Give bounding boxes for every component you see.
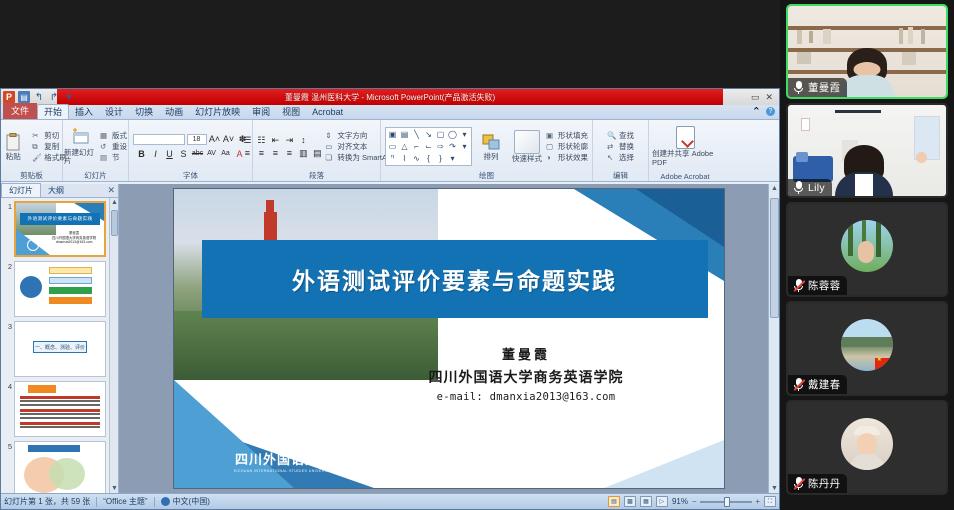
strikethrough-button[interactable]: abc xyxy=(192,148,204,160)
shape-effects-icon: ◑ xyxy=(546,153,556,163)
ribbon-tab-strip[interactable]: 文件 开始 插入 设计 切换 动画 幻灯片放映 审阅 视图 Acrobat ⌃ … xyxy=(1,105,779,120)
tab-design[interactable]: 设计 xyxy=(99,105,129,119)
tab-insert[interactable]: 插入 xyxy=(69,105,99,119)
theme-label[interactable]: “Office 主题” xyxy=(103,496,147,507)
thumbnail-number: 5 xyxy=(3,441,12,493)
font-size-input[interactable]: 18 xyxy=(187,134,207,145)
bullets-icon[interactable]: ☰ xyxy=(241,134,253,146)
accent-triangle-topright-dark xyxy=(636,189,724,247)
cut-label: 剪切 xyxy=(44,131,59,140)
university-logo: 四川外国语大学 SICHUAN INTERNATIONAL STUDIES UN… xyxy=(229,413,339,473)
tab-acrobat[interactable]: Acrobat xyxy=(306,105,349,119)
ribbon-group-editing: 🔍查找 ⇄替换 ↖选择 编辑 xyxy=(593,120,649,181)
avatar xyxy=(841,418,893,470)
tab-review[interactable]: 审阅 xyxy=(246,105,276,119)
ribbon-group-clipboard: 粘贴 ✂剪切 ⧉复制 🖌格式刷 剪贴板 xyxy=(1,120,63,181)
quick-styles-label: 快速样式 xyxy=(512,155,542,163)
help-icon[interactable]: ? xyxy=(766,107,775,116)
line-spacing-icon[interactable]: ↕ xyxy=(297,134,309,146)
microphone-muted-icon xyxy=(793,477,804,490)
ribbon-group-acrobat: 创建并共享 Adobe PDF Adobe Acrobat xyxy=(649,120,721,181)
participant-name-bar: 陈蓉蓉 xyxy=(788,276,847,295)
shape-fill-label: 形状填充 xyxy=(558,131,588,140)
group-label-slides: 幻灯片 xyxy=(63,170,128,181)
globe-emblem-icon xyxy=(267,413,301,447)
shadow-button[interactable]: S xyxy=(178,148,190,160)
university-name-cn: 四川外国语大学 xyxy=(229,449,339,468)
view-sorter-button[interactable]: ▩ xyxy=(624,496,636,507)
align-text-icon: ▭ xyxy=(325,142,335,152)
save-icon[interactable]: ▤ xyxy=(18,91,30,103)
participant-name: 陈蓉蓉 xyxy=(808,278,840,293)
thumbnail-slide-2[interactable] xyxy=(14,261,106,317)
list-item[interactable]: 3 一、概念、测验、评价 xyxy=(1,321,116,377)
decrease-font-icon[interactable]: A˅ xyxy=(223,133,235,145)
shape-elbow-icon[interactable]: ⌐ xyxy=(411,141,422,152)
microphone-icon xyxy=(793,181,804,194)
reset-icon: ↺ xyxy=(100,142,110,152)
ribbon-body: 粘贴 ✂剪切 ⧉复制 🖌格式刷 剪贴板 xyxy=(1,120,779,182)
underline-button[interactable]: U xyxy=(164,148,176,160)
thumbnail-number: 1 xyxy=(3,201,12,257)
shape-rightarrow-icon[interactable]: ⇨ xyxy=(435,141,446,152)
thumbnail-number: 4 xyxy=(3,381,12,437)
format-painter-button[interactable]: 🖌格式刷 xyxy=(32,153,67,163)
zoom-slider[interactable]: − + xyxy=(692,496,760,507)
microphone-muted-icon xyxy=(793,279,804,292)
author-block[interactable]: 董曼霞 四川外国语大学商务英语学院 e-mail: dmanxia2013@16… xyxy=(367,344,686,403)
align-left-icon[interactable]: ≡ xyxy=(241,147,253,159)
stage-scroll-thumb[interactable] xyxy=(770,198,779,318)
globe-icon xyxy=(161,497,170,506)
reset-button[interactable]: ↺重设 xyxy=(100,142,127,152)
close-icon[interactable]: ✕ xyxy=(765,92,773,103)
scroll-up-icon[interactable]: ▲ xyxy=(111,199,118,206)
powerpoint-logo-icon: P xyxy=(3,91,15,103)
new-slide-button[interactable]: 新建幻灯片 xyxy=(64,128,98,165)
group-label-clipboard: 剪贴板 xyxy=(1,170,62,181)
paste-label: 粘贴 xyxy=(6,153,21,161)
window-buttons[interactable]: ▭ ✕ xyxy=(751,89,777,105)
author-name: 董曼霞 xyxy=(367,344,686,363)
cut-button[interactable]: ✂剪切 xyxy=(32,131,67,141)
participant-name-bar: 陈丹丹 xyxy=(788,474,847,493)
italic-button[interactable]: I xyxy=(150,148,162,160)
tab-file[interactable]: 文件 xyxy=(3,103,37,119)
shape-triangle-icon[interactable]: △ xyxy=(399,141,410,152)
copy-icon: ⧉ xyxy=(32,142,42,152)
shape-outline-icon: ▢ xyxy=(546,142,556,152)
shape-scribble-icon[interactable]: ⌇ xyxy=(399,153,410,164)
text-direction-quick-icon[interactable]: ▤ xyxy=(311,147,323,159)
participant-tile-0[interactable]: 董曼霞 xyxy=(786,4,948,99)
thumbnail-number: 3 xyxy=(3,321,12,377)
increase-font-icon[interactable]: A˄ xyxy=(209,133,221,145)
shape-more-icon[interactable]: ▾ xyxy=(459,129,470,140)
quick-styles-button[interactable]: 快速样式 xyxy=(510,130,544,163)
create-share-pdf-button[interactable]: 创建并共享 Adobe PDF xyxy=(652,126,718,167)
change-case-button[interactable]: Aa xyxy=(220,148,232,160)
ribbon-group-drawing: ▣ ▤ ╲ ↘ ▢ ◯ ▾ ▭ △ ⌐ ⌙ ⇨ ↷ ▾ ꞌꞋ xyxy=(381,120,593,181)
powerpoint-window: P ▤ ↰ ↱ ▾ 董曼霞 温州医科大学 - Microsoft PowerPo… xyxy=(0,88,780,510)
close-pane-icon[interactable]: ✕ xyxy=(107,185,115,196)
pdf-icon xyxy=(676,126,695,149)
fit-slide-button[interactable]: ⛶ xyxy=(764,496,776,507)
copy-label: 复制 xyxy=(44,142,59,151)
layout-icon: ▦ xyxy=(100,131,110,141)
shape-gallery[interactable]: ▣ ▤ ╲ ↘ ▢ ◯ ▾ ▭ △ ⌐ ⌙ ⇨ ↷ ▾ ꞌꞋ xyxy=(385,127,472,166)
replace-label: 替换 xyxy=(619,142,634,151)
language-indicator[interactable]: 中文(中国) xyxy=(161,496,210,507)
shape-blank-icon xyxy=(459,153,470,164)
participant-name: Lily xyxy=(808,182,825,194)
zoom-handle[interactable] xyxy=(724,497,730,507)
quick-access-toolbar[interactable]: P ▤ ↰ ↱ ▾ xyxy=(1,89,75,105)
shape-square-icon[interactable]: ▢ xyxy=(435,129,446,140)
tab-view[interactable]: 视图 xyxy=(276,105,306,119)
shape-curve-icon[interactable]: ∿ xyxy=(411,153,422,164)
meeting-participant-rail[interactable]: 董曼霞 Lily xyxy=(780,0,954,510)
accent-triangle-bottomright xyxy=(604,440,724,488)
status-bar: 幻灯片第 1 张，共 59 张 “Office 主题” 中文(中国) ▤ ▩ ▦… xyxy=(1,493,779,509)
text-direction-label: 文字方向 xyxy=(337,131,367,140)
shape-line-icon[interactable]: ╲ xyxy=(411,129,422,140)
section-icon: ▤ xyxy=(100,153,110,163)
shape-outline-button[interactable]: ▢形状轮廓 xyxy=(546,142,588,152)
window-title-text: 董曼霞 温州医科大学 - Microsoft PowerPoint(产品激活失败… xyxy=(285,92,495,103)
group-label-editing: 编辑 xyxy=(593,170,648,181)
slide-canvas[interactable]: 外语测试评价要素与命题实践 董曼霞 四川外国语大学商务英语学院 e-mail: … xyxy=(174,189,724,488)
participant-tile-3[interactable]: ★ 戴建春 xyxy=(786,301,948,396)
align-text-label: 对齐文本 xyxy=(337,142,367,151)
numbering-icon[interactable]: ☷ xyxy=(255,134,267,146)
columns-icon[interactable]: ▥ xyxy=(297,147,309,159)
shape-effects-label: 形状效果 xyxy=(558,153,588,162)
tab-outline[interactable]: 大纲 xyxy=(41,184,71,197)
tab-transitions[interactable]: 切换 xyxy=(129,105,159,119)
slide-scrollbar[interactable]: ▲ ▼ xyxy=(768,184,779,493)
thumbnail-slide-1[interactable]: 外语测试评价要素与命题实践 董曼霞四川外国语大学商务英语学院dmanxia201… xyxy=(14,201,106,257)
shape-outline-label: 形状轮廓 xyxy=(558,142,588,151)
text-direction-icon: ⇕ xyxy=(325,131,335,141)
replace-icon: ⇄ xyxy=(607,142,617,152)
ribbon-group-font: 18 A˄ A˅ ✽ B I U S abc AV Aa A xyxy=(129,120,253,181)
participant-tile-2[interactable]: 陈蓉蓉 xyxy=(786,202,948,297)
participant-name: 董曼霞 xyxy=(808,80,840,95)
scroll-down-icon[interactable]: ▼ xyxy=(111,485,118,492)
justify-icon[interactable]: ≡ xyxy=(283,147,295,159)
shape-fill-button[interactable]: ▣形状填充 xyxy=(546,131,588,141)
thumbnail-scrollbar[interactable]: ▲ ▼ xyxy=(109,198,118,493)
group-label-paragraph: 段落 xyxy=(253,170,380,181)
participant-name-bar: 董曼霞 xyxy=(788,78,847,97)
find-button[interactable]: 🔍查找 xyxy=(607,131,634,141)
new-slide-label: 新建幻灯片 xyxy=(64,149,98,165)
ribbon-group-slides: 新建幻灯片 ▦版式 ↺重设 ▤节 幻灯片 xyxy=(63,120,129,181)
zoom-in-button[interactable]: + xyxy=(755,497,760,506)
shape-brace-close-icon[interactable]: } xyxy=(435,153,446,164)
new-slide-icon xyxy=(71,128,91,148)
redo-icon[interactable]: ↱ xyxy=(48,91,60,103)
layout-button[interactable]: ▦版式 xyxy=(100,131,127,141)
participant-name-bar: 戴建春 xyxy=(788,375,847,394)
undo-icon[interactable]: ↰ xyxy=(33,91,45,103)
select-button[interactable]: ↖选择 xyxy=(607,153,634,163)
tab-slideshow[interactable]: 幻灯片放映 xyxy=(189,105,246,119)
create-share-pdf-label: 创建并共享 Adobe PDF xyxy=(652,149,718,167)
shape-freeform-icon[interactable]: ꞌꞋ xyxy=(387,153,398,164)
group-label-font: 字体 xyxy=(129,170,252,181)
university-name-en: SICHUAN INTERNATIONAL STUDIES UNIVERSITY xyxy=(229,469,339,473)
zoom-out-button[interactable]: − xyxy=(692,497,697,506)
avatar: ★ xyxy=(841,319,893,371)
brush-icon: 🖌 xyxy=(32,153,42,163)
participant-tile-1[interactable]: Lily xyxy=(786,103,948,198)
arrange-icon xyxy=(481,132,501,152)
thumbnail-number: 2 xyxy=(3,261,12,317)
shape-rect2-icon[interactable]: ▤ xyxy=(399,129,410,140)
shape-arrow-icon[interactable]: ↘ xyxy=(423,129,434,140)
slide-pane-tabs[interactable]: 幻灯片 大纲 ✕ xyxy=(1,184,118,198)
align-center-icon[interactable]: ≡ xyxy=(255,147,267,159)
shape-rounded-icon[interactable]: ▭ xyxy=(387,141,398,152)
customize-qat-icon[interactable]: ▾ xyxy=(63,91,75,103)
section-label: 节 xyxy=(112,153,120,162)
scissors-icon: ✂ xyxy=(32,131,42,141)
shape-corner-icon[interactable]: ⌙ xyxy=(423,141,434,152)
shape-oval-icon[interactable]: ◯ xyxy=(447,129,458,140)
ribbon-group-paragraph: ☰ ☷ ⇤ ⇥ ↕ ≡ ≡ ≡ ≡ ▥ ▤ xyxy=(253,120,381,181)
thumbnail-slide-5[interactable] xyxy=(14,441,106,493)
tab-animations[interactable]: 动画 xyxy=(159,105,189,119)
minimize-icon[interactable]: ▭ xyxy=(751,92,760,103)
shape-textbox-icon[interactable]: ▣ xyxy=(387,129,398,140)
microphone-muted-icon xyxy=(793,378,804,391)
group-label-acrobat: Adobe Acrobat xyxy=(649,172,721,181)
increase-indent-icon[interactable]: ⇥ xyxy=(283,134,295,146)
divider xyxy=(96,497,97,507)
arrange-button[interactable]: 排列 xyxy=(474,132,508,161)
stage-scroll-up-icon[interactable]: ▲ xyxy=(769,185,780,192)
participant-name-bar: Lily xyxy=(788,179,832,196)
shape-gallery-more-icon[interactable]: ▾ xyxy=(447,153,458,164)
thumbnail-slide-4[interactable] xyxy=(14,381,106,437)
view-slideshow-button[interactable]: ▷ xyxy=(656,496,668,507)
author-affiliation: 四川外国语大学商务英语学院 xyxy=(367,367,686,387)
paste-icon xyxy=(3,132,23,152)
list-item[interactable]: 2 xyxy=(1,261,116,317)
quick-styles-icon xyxy=(514,130,540,154)
find-label: 查找 xyxy=(619,131,634,140)
zoom-level-label: 91% xyxy=(672,497,688,506)
avatar xyxy=(841,220,893,272)
participant-name: 陈丹丹 xyxy=(808,476,840,491)
shape-fill-icon: ▣ xyxy=(546,131,556,141)
decrease-indent-icon[interactable]: ⇤ xyxy=(269,134,281,146)
align-right-icon[interactable]: ≡ xyxy=(269,147,281,159)
list-item[interactable]: 4 xyxy=(1,381,116,437)
thumbnail-list[interactable]: 1 外语测试评价要素与命题实践 董曼霞四川外国语大学商务英语学院dmanxia2… xyxy=(1,198,118,493)
tab-home[interactable]: 开始 xyxy=(37,104,69,119)
slide-stage: 外语测试评价要素与命题实践 董曼霞 四川外国语大学商务英语学院 e-mail: … xyxy=(119,184,779,493)
window-title: 董曼霞 温州医科大学 - Microsoft PowerPoint(产品激活失败… xyxy=(57,89,723,105)
slide-thumbnail-pane: 幻灯片 大纲 ✕ 1 外语测试评价要素与命题实践 董曼霞四川外国语大学商务英语学… xyxy=(1,184,119,493)
participant-tile-4[interactable]: 陈丹丹 xyxy=(786,400,948,495)
status-right-controls[interactable]: ▤ ▩ ▦ ▷ 91% − + ⛶ xyxy=(608,496,776,507)
author-email: e-mail: dmanxia2013@163.com xyxy=(367,391,686,403)
ribbon-help-controls[interactable]: ⌃ ? xyxy=(752,105,775,118)
group-label-drawing: 绘图 xyxy=(381,170,592,181)
screen-root: P ▤ ↰ ↱ ▾ 董曼霞 温州医科大学 - Microsoft PowerPo… xyxy=(0,0,954,510)
shape-curvearrow-icon[interactable]: ↷ xyxy=(447,141,458,152)
tab-slides[interactable]: 幻灯片 xyxy=(1,183,41,197)
select-label: 选择 xyxy=(619,153,634,162)
shape-effects-button[interactable]: ◑形状效果 xyxy=(546,153,588,163)
arrange-label: 排列 xyxy=(484,153,499,161)
reset-label: 重设 xyxy=(112,142,127,151)
thumbnail-slide-3[interactable]: 一、概念、测验、评价 xyxy=(14,321,106,377)
workspace: 幻灯片 大纲 ✕ 1 外语测试评价要素与命题实践 董曼霞四川外国语大学商务英语学… xyxy=(1,184,779,493)
view-normal-button[interactable]: ▤ xyxy=(608,496,620,507)
character-spacing-button[interactable]: AV xyxy=(206,148,218,160)
participant-name: 戴建春 xyxy=(808,377,840,392)
list-item[interactable]: 5 xyxy=(1,441,116,493)
paste-button[interactable]: 粘贴 xyxy=(0,132,30,161)
view-reading-button[interactable]: ▦ xyxy=(640,496,652,507)
page-title: 外语测试评价要素与命题实践 xyxy=(292,262,617,296)
title-bar: P ▤ ↰ ↱ ▾ 董曼霞 温州医科大学 - Microsoft PowerPo… xyxy=(1,89,779,105)
slide-title-band[interactable]: 外语测试评价要素与命题实践 xyxy=(202,240,708,318)
section-button[interactable]: ▤节 xyxy=(100,153,127,163)
smartart-icon: ❏ xyxy=(325,153,335,163)
stage-scroll-down-icon[interactable]: ▼ xyxy=(769,485,780,492)
microphone-icon xyxy=(793,81,804,94)
cursor-icon: ↖ xyxy=(607,153,617,163)
scroll-thumb[interactable] xyxy=(111,210,118,236)
font-name-input[interactable] xyxy=(133,134,185,145)
shape-brace-open-icon[interactable]: { xyxy=(423,153,434,164)
divider xyxy=(154,497,155,507)
list-item[interactable]: 1 外语测试评价要素与命题实践 董曼霞四川外国语大学商务英语学院dmanxia2… xyxy=(1,201,116,257)
layout-label: 版式 xyxy=(112,131,127,140)
search-icon: 🔍 xyxy=(607,131,617,141)
slide-count-label: 幻灯片第 1 张，共 59 张 xyxy=(4,496,90,507)
replace-button[interactable]: ⇄替换 xyxy=(607,142,634,152)
shape-scroll-icon[interactable]: ▾ xyxy=(459,141,470,152)
language-label: 中文(中国) xyxy=(173,496,210,507)
bold-button[interactable]: B xyxy=(136,148,148,160)
copy-button[interactable]: ⧉复制 xyxy=(32,142,67,152)
collapse-ribbon-icon[interactable]: ⌃ xyxy=(752,105,761,118)
